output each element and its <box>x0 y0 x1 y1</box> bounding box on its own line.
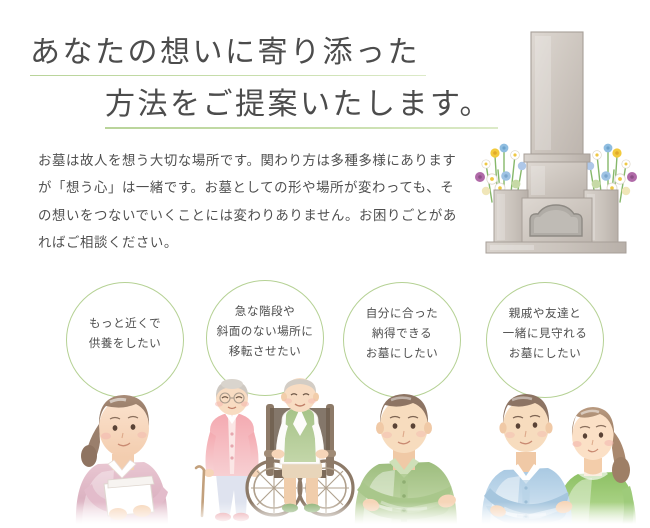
bubble-2-text: 急な階段や 斜面のない場所に 移転させたい <box>217 302 314 362</box>
bubble-3-text: 自分に合った 納得できる お墓にしたい <box>366 304 439 364</box>
man-blue-shirt <box>482 394 574 528</box>
illustration-woman-holding-documents <box>58 380 188 528</box>
heading-line-1: あなたの想いに寄り添った <box>30 34 420 76</box>
illustration-young-couple <box>478 378 638 528</box>
woman-with-documents-icon <box>58 380 188 528</box>
elderly-woman-cane-and-man-wheelchair-icon <box>190 378 342 528</box>
body-paragraph-text: お墓は故人を想う大切な場所です。関わり方は多種多様にありますが「想う心」は一緒で… <box>38 148 458 258</box>
illustration-elderly-pair <box>190 378 342 528</box>
gravestone-illustration <box>468 14 644 272</box>
page-heading: あなたの想いに寄り添った 方法をご提案いたします。 <box>0 34 470 129</box>
bubble-1-text: もっと近くで 供養をしたい <box>89 314 162 354</box>
young-couple-icon <box>478 378 638 528</box>
people-illustration-row <box>0 372 650 528</box>
heading-line-2-row: 方法をご提案いたします。 <box>105 86 470 128</box>
illustration-man-green-shirt <box>345 382 465 528</box>
promotional-page: あなたの想いに寄り添った 方法をご提案いたします。 お墓は故人を想う大切な場所で… <box>0 0 650 528</box>
heading-line-2: 方法をご提案いたします。 <box>105 86 492 128</box>
elderly-man-in-wheelchair <box>247 378 353 515</box>
man-arms-crossed-icon <box>345 382 465 528</box>
bubble-4-text: 親戚や友達と 一緒に見守れる お墓にしたい <box>503 304 588 364</box>
heading-line-1-row: あなたの想いに寄り添った <box>30 34 470 76</box>
body-paragraph: お墓は故人を想う大切な場所です。関わり方は多種多様にありますが「想う心」は一緒で… <box>38 148 458 258</box>
gravestone-icon <box>468 14 644 272</box>
